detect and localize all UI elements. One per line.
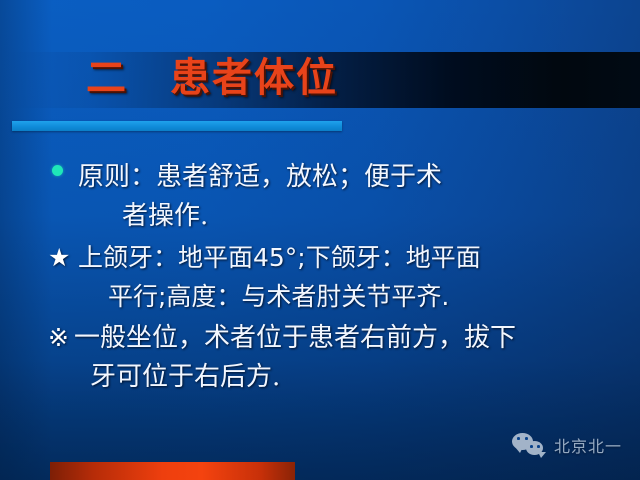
slide-body: 原则：患者舒适，放松；便于术 者操作. ★上颌牙：地平面45°;下颌牙：地平面 … [48,158,616,399]
bullet-text: 原则：患者舒适，放松；便于术 [78,162,442,192]
bullet-line-continued: 平行;高度：与术者肘关节平齐. [48,277,616,316]
bullet-line: ★上颌牙：地平面45°;下颌牙：地平面 [48,238,616,277]
bullet-line: 原则：患者舒适，放松；便于术 [48,158,616,197]
bullet-text: 上颌牙：地平面45°;下颌牙：地平面 [78,243,481,272]
reference-mark-icon: ※ [48,318,74,357]
bottom-accent-bar [50,462,295,480]
wechat-icon [512,432,546,458]
slide-canvas: 二 患者体位 原则：患者舒适，放松；便于术 者操作. ★上颌牙：地平面45°;下… [0,0,640,480]
bullet-item: ★上颌牙：地平面45°;下颌牙：地平面 平行;高度：与术者肘关节平齐. [48,238,616,316]
title-accent-bar [12,121,342,131]
bullet-item: ※一般坐位，术者位于患者右前方，拔下 牙可位于右后方. [48,318,616,397]
slide-title: 二 患者体位 [86,54,338,102]
watermark: 北京北一 [512,432,622,458]
bullet-item: 原则：患者舒适，放松；便于术 者操作. [48,158,616,236]
bullet-line-continued: 者操作. [48,197,616,236]
watermark-label: 北京北一 [554,433,622,457]
bullet-line: ※一般坐位，术者位于患者右前方，拔下 [48,318,616,358]
bullet-text: 一般坐位，术者位于患者右前方，拔下 [74,323,516,353]
bullet-line-continued: 牙可位于右后方. [48,358,616,397]
star-icon: ★ [48,238,78,277]
